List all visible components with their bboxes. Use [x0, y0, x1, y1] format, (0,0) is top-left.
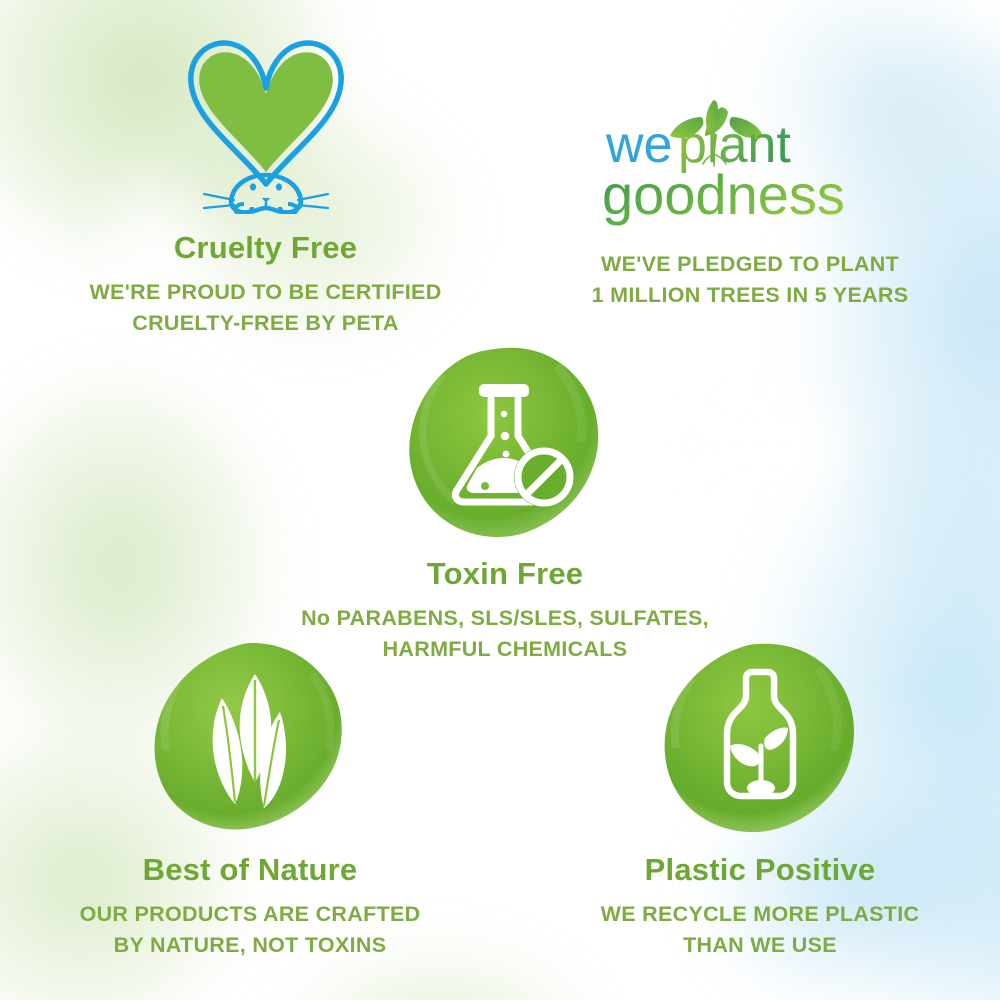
section-title: Toxin Free	[275, 557, 735, 591]
subtitle-line-1: WE'RE PROUD TO BE CERTIFIED	[28, 277, 503, 308]
logo-word-goodness: goodness	[602, 163, 845, 226]
we-plant-goodness-logo-icon: we plant goodness	[600, 92, 900, 227]
infographic-canvas: Cruelty Free WE'RE PROUD TO BE CERTIFIED…	[0, 0, 1000, 1000]
section-best-of-nature: Best of Nature OUR PRODUCTS ARE CRAFTED …	[20, 640, 480, 960]
subtitle-line-1: OUR PRODUCTS ARE CRAFTED	[20, 899, 480, 930]
subtitle-line-1: WE RECYCLE MORE PLASTIC	[530, 899, 990, 930]
bottle-sprout-icon	[662, 640, 858, 836]
section-plastic-positive: Plastic Positive WE RECYCLE MORE PLASTIC…	[530, 640, 990, 960]
section-title: Best of Nature	[20, 853, 480, 887]
section-we-plant-goodness: we plant goodness WE'VE PLEDGED TO PLANT…	[520, 92, 980, 310]
peta-bunny-logo-icon	[166, 24, 366, 214]
section-subtitle: WE'RE PROUD TO BE CERTIFIED CRUELTY-FREE…	[28, 277, 503, 338]
subtitle-line-1: WE'VE PLEDGED TO PLANT	[520, 249, 980, 280]
subtitle-line-1: No PARABENS, SLS/SLES, SULFATES,	[275, 603, 735, 634]
subtitle-line-2: BY NATURE, NOT TOXINS	[20, 930, 480, 961]
section-title: Cruelty Free	[28, 231, 503, 265]
three-leaves-icon	[152, 640, 348, 836]
subtitle-line-2: CRUELTY-FREE BY PETA	[28, 308, 503, 339]
section-subtitle: WE RECYCLE MORE PLASTIC THAN WE USE	[530, 899, 990, 960]
subtitle-line-2: THAN WE USE	[530, 930, 990, 961]
section-title: Plastic Positive	[530, 853, 990, 887]
section-toxin-free: Toxin Free No PARABENS, SLS/SLES, SULFAT…	[275, 344, 735, 664]
section-subtitle: OUR PRODUCTS ARE CRAFTED BY NATURE, NOT …	[20, 899, 480, 960]
toxin-free-badge	[407, 344, 603, 540]
section-cruelty-free: Cruelty Free WE'RE PROUD TO BE CERTIFIED…	[28, 24, 503, 338]
section-subtitle: WE'VE PLEDGED TO PLANT 1 MILLION TREES I…	[520, 249, 980, 310]
subtitle-line-2: 1 MILLION TREES IN 5 YEARS	[520, 280, 980, 311]
flask-no-toxins-icon	[407, 344, 603, 540]
plastic-positive-badge	[662, 640, 858, 836]
best-of-nature-badge	[152, 640, 348, 836]
